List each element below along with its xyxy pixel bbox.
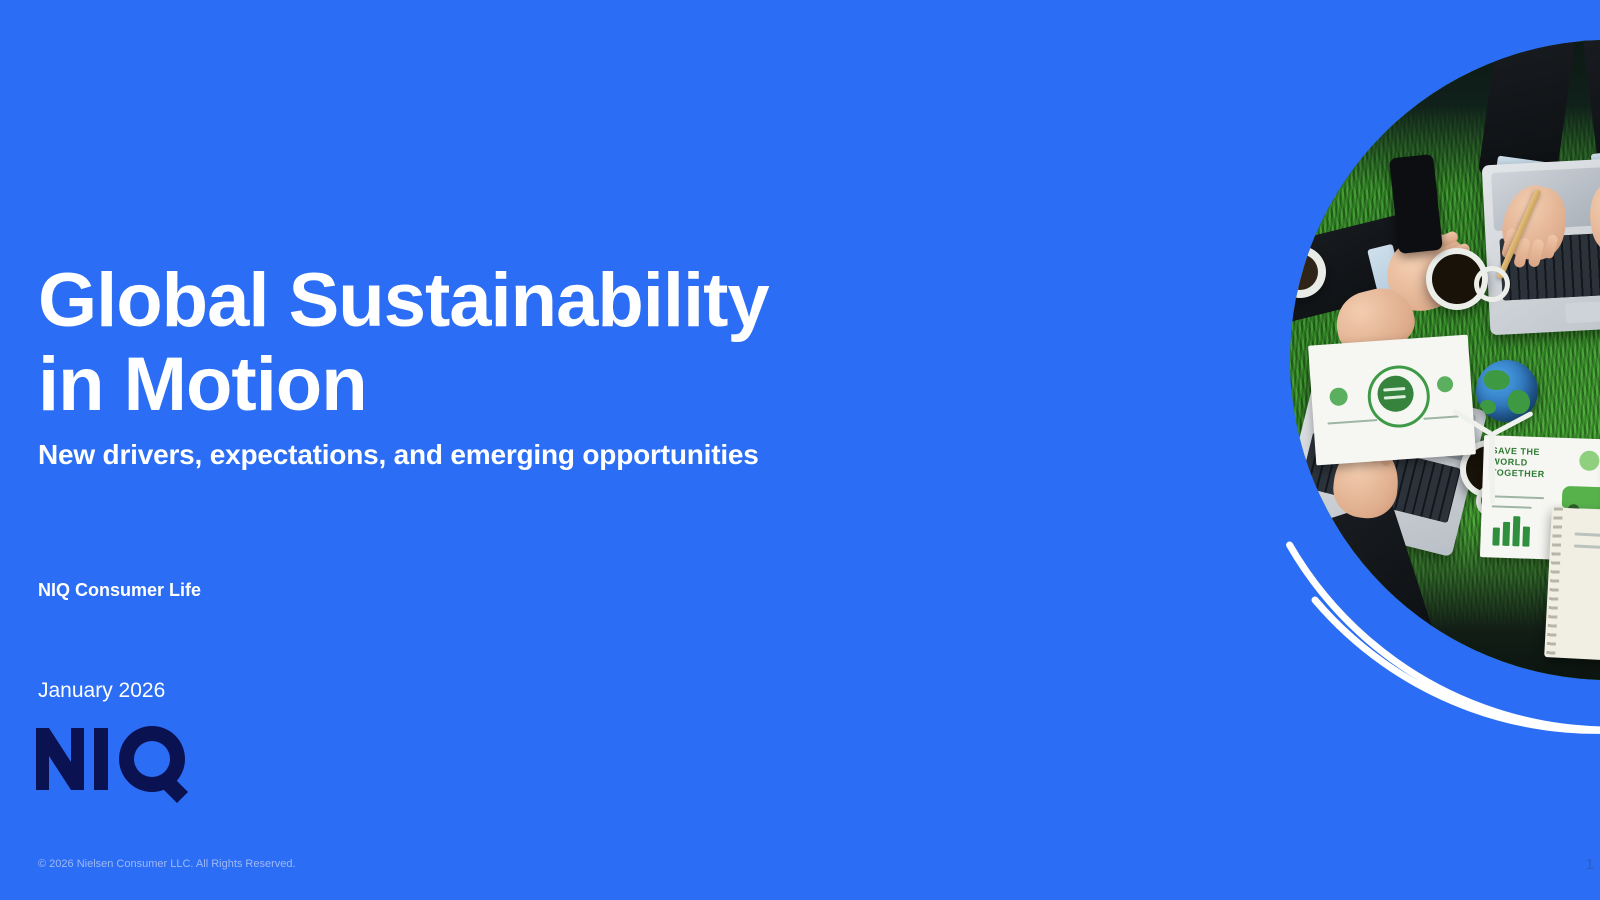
copyright-notice: © 2026 Nielsen Consumer LLC. All Rights … bbox=[38, 856, 296, 872]
author-team: NIQ Consumer Life bbox=[38, 577, 201, 603]
laptop-bottom-left bbox=[1290, 369, 1488, 557]
laptop-top-trackpad bbox=[1565, 301, 1600, 324]
laptop-top-screen bbox=[1491, 163, 1600, 231]
niq-logo-icon bbox=[32, 722, 208, 804]
photo-scene: SAVE THE WORLD TOGETHER bbox=[1290, 40, 1600, 680]
sleeve-top-right bbox=[1582, 40, 1600, 170]
page-number: 1 bbox=[1586, 856, 1594, 874]
pencil-top bbox=[1497, 189, 1542, 279]
sleeve-top-left bbox=[1478, 40, 1576, 185]
coffee-mug-top bbox=[1426, 248, 1488, 310]
cover-artwork: SAVE THE WORLD TOGETHER bbox=[900, 0, 1600, 900]
coffee-mug-bottom bbox=[1460, 440, 1518, 498]
grass-surface bbox=[1290, 40, 1600, 680]
page-subtitle: New drivers, expectations, and emerging … bbox=[38, 436, 918, 474]
decorative-arc bbox=[900, 0, 1600, 900]
laptop-top bbox=[1482, 155, 1600, 336]
publication-date: January 2026 bbox=[38, 677, 165, 705]
page-title: Global Sustainability in Motion bbox=[38, 259, 898, 427]
photo-bottom-shadow bbox=[1290, 520, 1600, 680]
spiral-notebook bbox=[1544, 507, 1600, 663]
infographic-zero-waste bbox=[1308, 335, 1476, 466]
photo-top-shadow bbox=[1290, 40, 1600, 190]
hand-typing-left bbox=[1496, 180, 1574, 267]
label-save-the-world: SAVE THE WORLD TOGETHER bbox=[1491, 445, 1562, 480]
cuff-left bbox=[1367, 244, 1407, 309]
plant-pot bbox=[1290, 246, 1326, 298]
laptop-bl-screen bbox=[1313, 377, 1476, 461]
sleeve-bottom-left bbox=[1299, 499, 1437, 671]
sleeve-left bbox=[1290, 213, 1423, 325]
wind-turbine-model bbox=[1446, 416, 1542, 512]
hand-bottom-left bbox=[1330, 443, 1401, 521]
smartphone-left bbox=[1389, 154, 1443, 254]
hand-open-left-2 bbox=[1330, 281, 1421, 360]
hand-open-left bbox=[1375, 222, 1483, 323]
hand-typing-right bbox=[1583, 174, 1600, 262]
title-slide: SAVE THE WORLD TOGETHER bbox=[0, 0, 1600, 900]
laptop-top-keyboard bbox=[1500, 229, 1600, 300]
cuff-top-left bbox=[1495, 156, 1564, 191]
niq-logo bbox=[32, 722, 208, 804]
globe-model bbox=[1476, 360, 1538, 422]
cuff-top-right bbox=[1591, 146, 1600, 180]
hero-photo: SAVE THE WORLD TOGETHER bbox=[1290, 40, 1600, 680]
infographic-save-the-world: SAVE THE WORLD TOGETHER bbox=[1480, 435, 1600, 563]
laptop-bl-keyboard bbox=[1300, 432, 1461, 523]
